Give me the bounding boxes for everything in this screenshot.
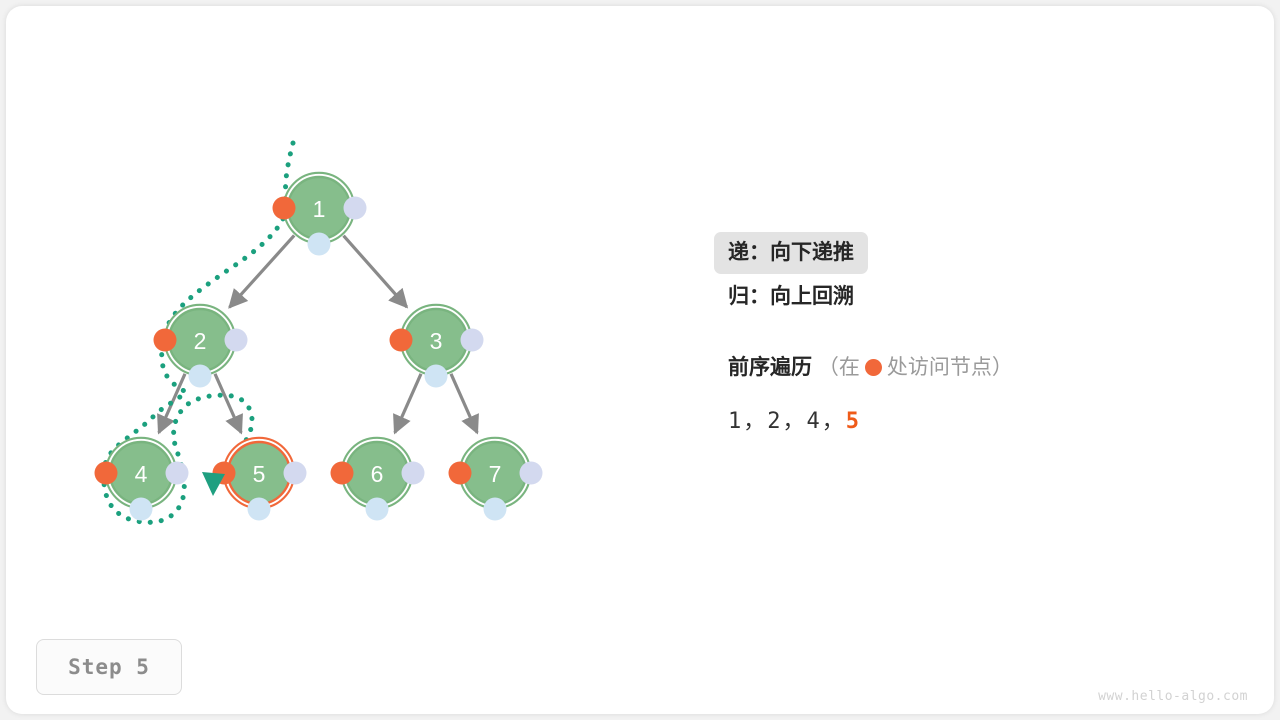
tree-edge [215,374,241,433]
traversal-sequence: 1，2，4，5 [728,403,1228,435]
tree-nodes: 1234567 [95,173,543,521]
node-bottom-dot-icon [130,498,153,521]
tree-node-4: 4 [95,438,189,521]
node-right-dot-icon [166,462,189,485]
traversal-sequence-current: 5 [846,409,861,434]
tree-edge [451,374,477,433]
visit-marker-icon [865,359,882,376]
node-visit-dot-icon [390,329,413,352]
tree-edge [395,374,421,433]
node-value: 3 [430,328,443,354]
info-panel: 递：向下递推 归：向上回溯 前序遍历 （在处访问节点） 1，2，4，5 [728,232,1228,435]
node-value: 2 [194,328,207,354]
traversal-title-prefix: （在 [818,356,860,379]
node-bottom-dot-icon [248,498,271,521]
traversal-title-strong: 前序遍历 [728,356,812,379]
node-right-dot-icon [402,462,425,485]
node-bottom-dot-icon [189,365,212,388]
legend-recurse: 递：向下递推 [728,232,1228,274]
legend-backtrack: 归：向上回溯 [728,286,1228,307]
legend-recurse-label: 递：向下递推 [714,232,868,274]
node-right-dot-icon [520,462,543,485]
node-bottom-dot-icon [308,233,331,256]
tree-node-6: 6 [331,438,425,521]
page-root: 1234567 递：向下递推 归：向上回溯 前序遍历 （在处访问节点） 1，2，… [0,0,1280,720]
node-value: 1 [313,196,326,222]
node-bottom-dot-icon [484,498,507,521]
node-visit-dot-icon [95,462,118,485]
node-right-dot-icon [284,462,307,485]
step-badge-label: Step 5 [68,655,150,679]
node-value: 6 [371,461,384,487]
node-visit-dot-icon [331,462,354,485]
watermark: www.hello-algo.com [1098,689,1248,704]
node-value: 7 [489,461,502,487]
tree-edge [344,236,407,307]
traversal-title: 前序遍历 （在处访问节点） [728,351,1228,381]
node-bottom-dot-icon [425,365,448,388]
step-badge: Step 5 [36,639,182,695]
tree-node-5: 5 [213,438,307,521]
tree-node-3: 3 [390,305,484,388]
node-value: 4 [135,461,148,487]
node-right-dot-icon [344,197,367,220]
traversal-title-suffix: 处访问节点） [887,356,1013,379]
node-visit-dot-icon [449,462,472,485]
node-visit-dot-icon [154,329,177,352]
node-right-dot-icon [461,329,484,352]
node-visit-dot-icon [273,197,296,220]
node-right-dot-icon [225,329,248,352]
node-value: 5 [253,461,266,487]
tree-node-7: 7 [449,438,543,521]
node-bottom-dot-icon [366,498,389,521]
legend-backtrack-label: 归：向上回溯 [728,285,854,308]
traversal-sequence-visited: 1，2，4， [728,409,846,434]
